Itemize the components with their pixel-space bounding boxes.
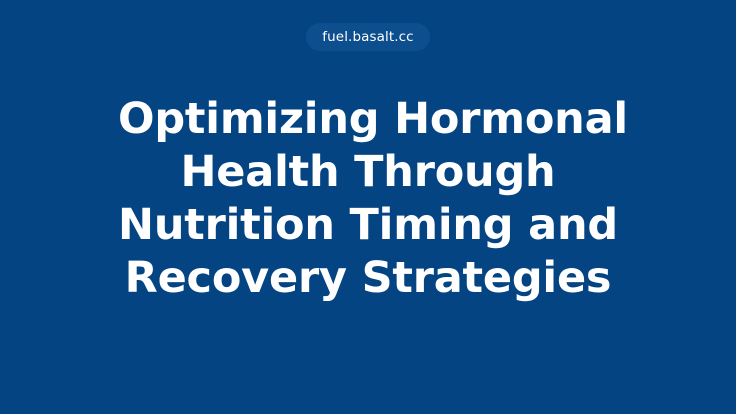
page-title: Optimizing Hormonal Health Through Nutri… [118, 93, 618, 305]
title-line-4: Recovery Strategies [118, 252, 618, 305]
title-slide: fuel.basalt.cc Optimizing Hormonal Healt… [0, 0, 736, 414]
title-line-2: Health Through [118, 146, 618, 199]
badge-row: fuel.basalt.cc [0, 23, 736, 51]
site-domain-badge: fuel.basalt.cc [306, 23, 429, 51]
title-line-1: Optimizing Hormonal [118, 93, 618, 146]
headline-wrap: Optimizing Hormonal Health Through Nutri… [0, 93, 736, 305]
title-line-3: Nutrition Timing and [118, 199, 618, 252]
